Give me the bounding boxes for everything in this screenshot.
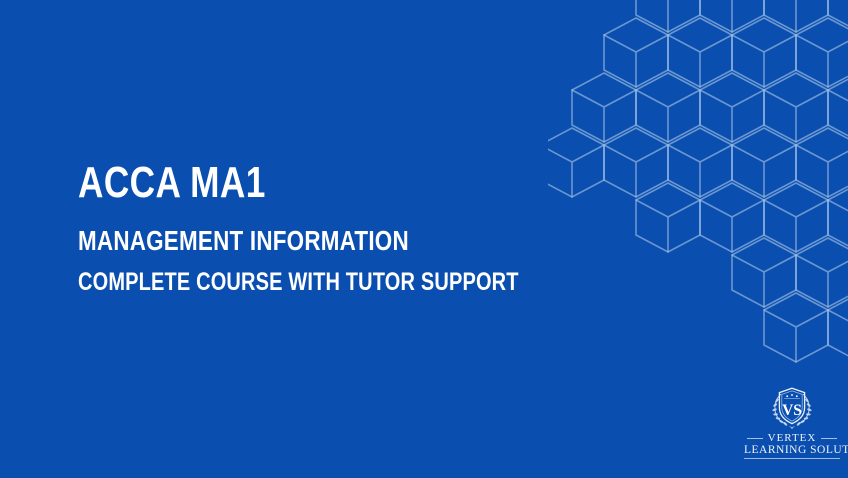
brand-name-line-2: Learning Solutions [744, 444, 840, 456]
course-tagline: Complete Course with Tutor Support [78, 269, 454, 296]
brand-rule-right [821, 438, 837, 439]
brand-rule-left [747, 438, 763, 439]
crest-monogram-text: VS [782, 402, 802, 419]
slide-heading-block: ACCA MA1 Management Information Complete… [78, 160, 548, 296]
isometric-cube-lattice-pattern [548, 0, 848, 380]
brand-word-vertex: Vertex [768, 432, 817, 444]
brand-logo: VS Vertex Learning Solutions [744, 385, 840, 459]
brand-name-line-1: Vertex [744, 432, 840, 444]
course-code-title: ACCA MA1 [78, 160, 454, 206]
course-name-subtitle: Management Information [78, 226, 454, 256]
shield-crest-icon: VS [744, 385, 840, 431]
presentation-slide: ACCA MA1 Management Information Complete… [0, 0, 848, 478]
brand-underline-divider [744, 458, 840, 459]
